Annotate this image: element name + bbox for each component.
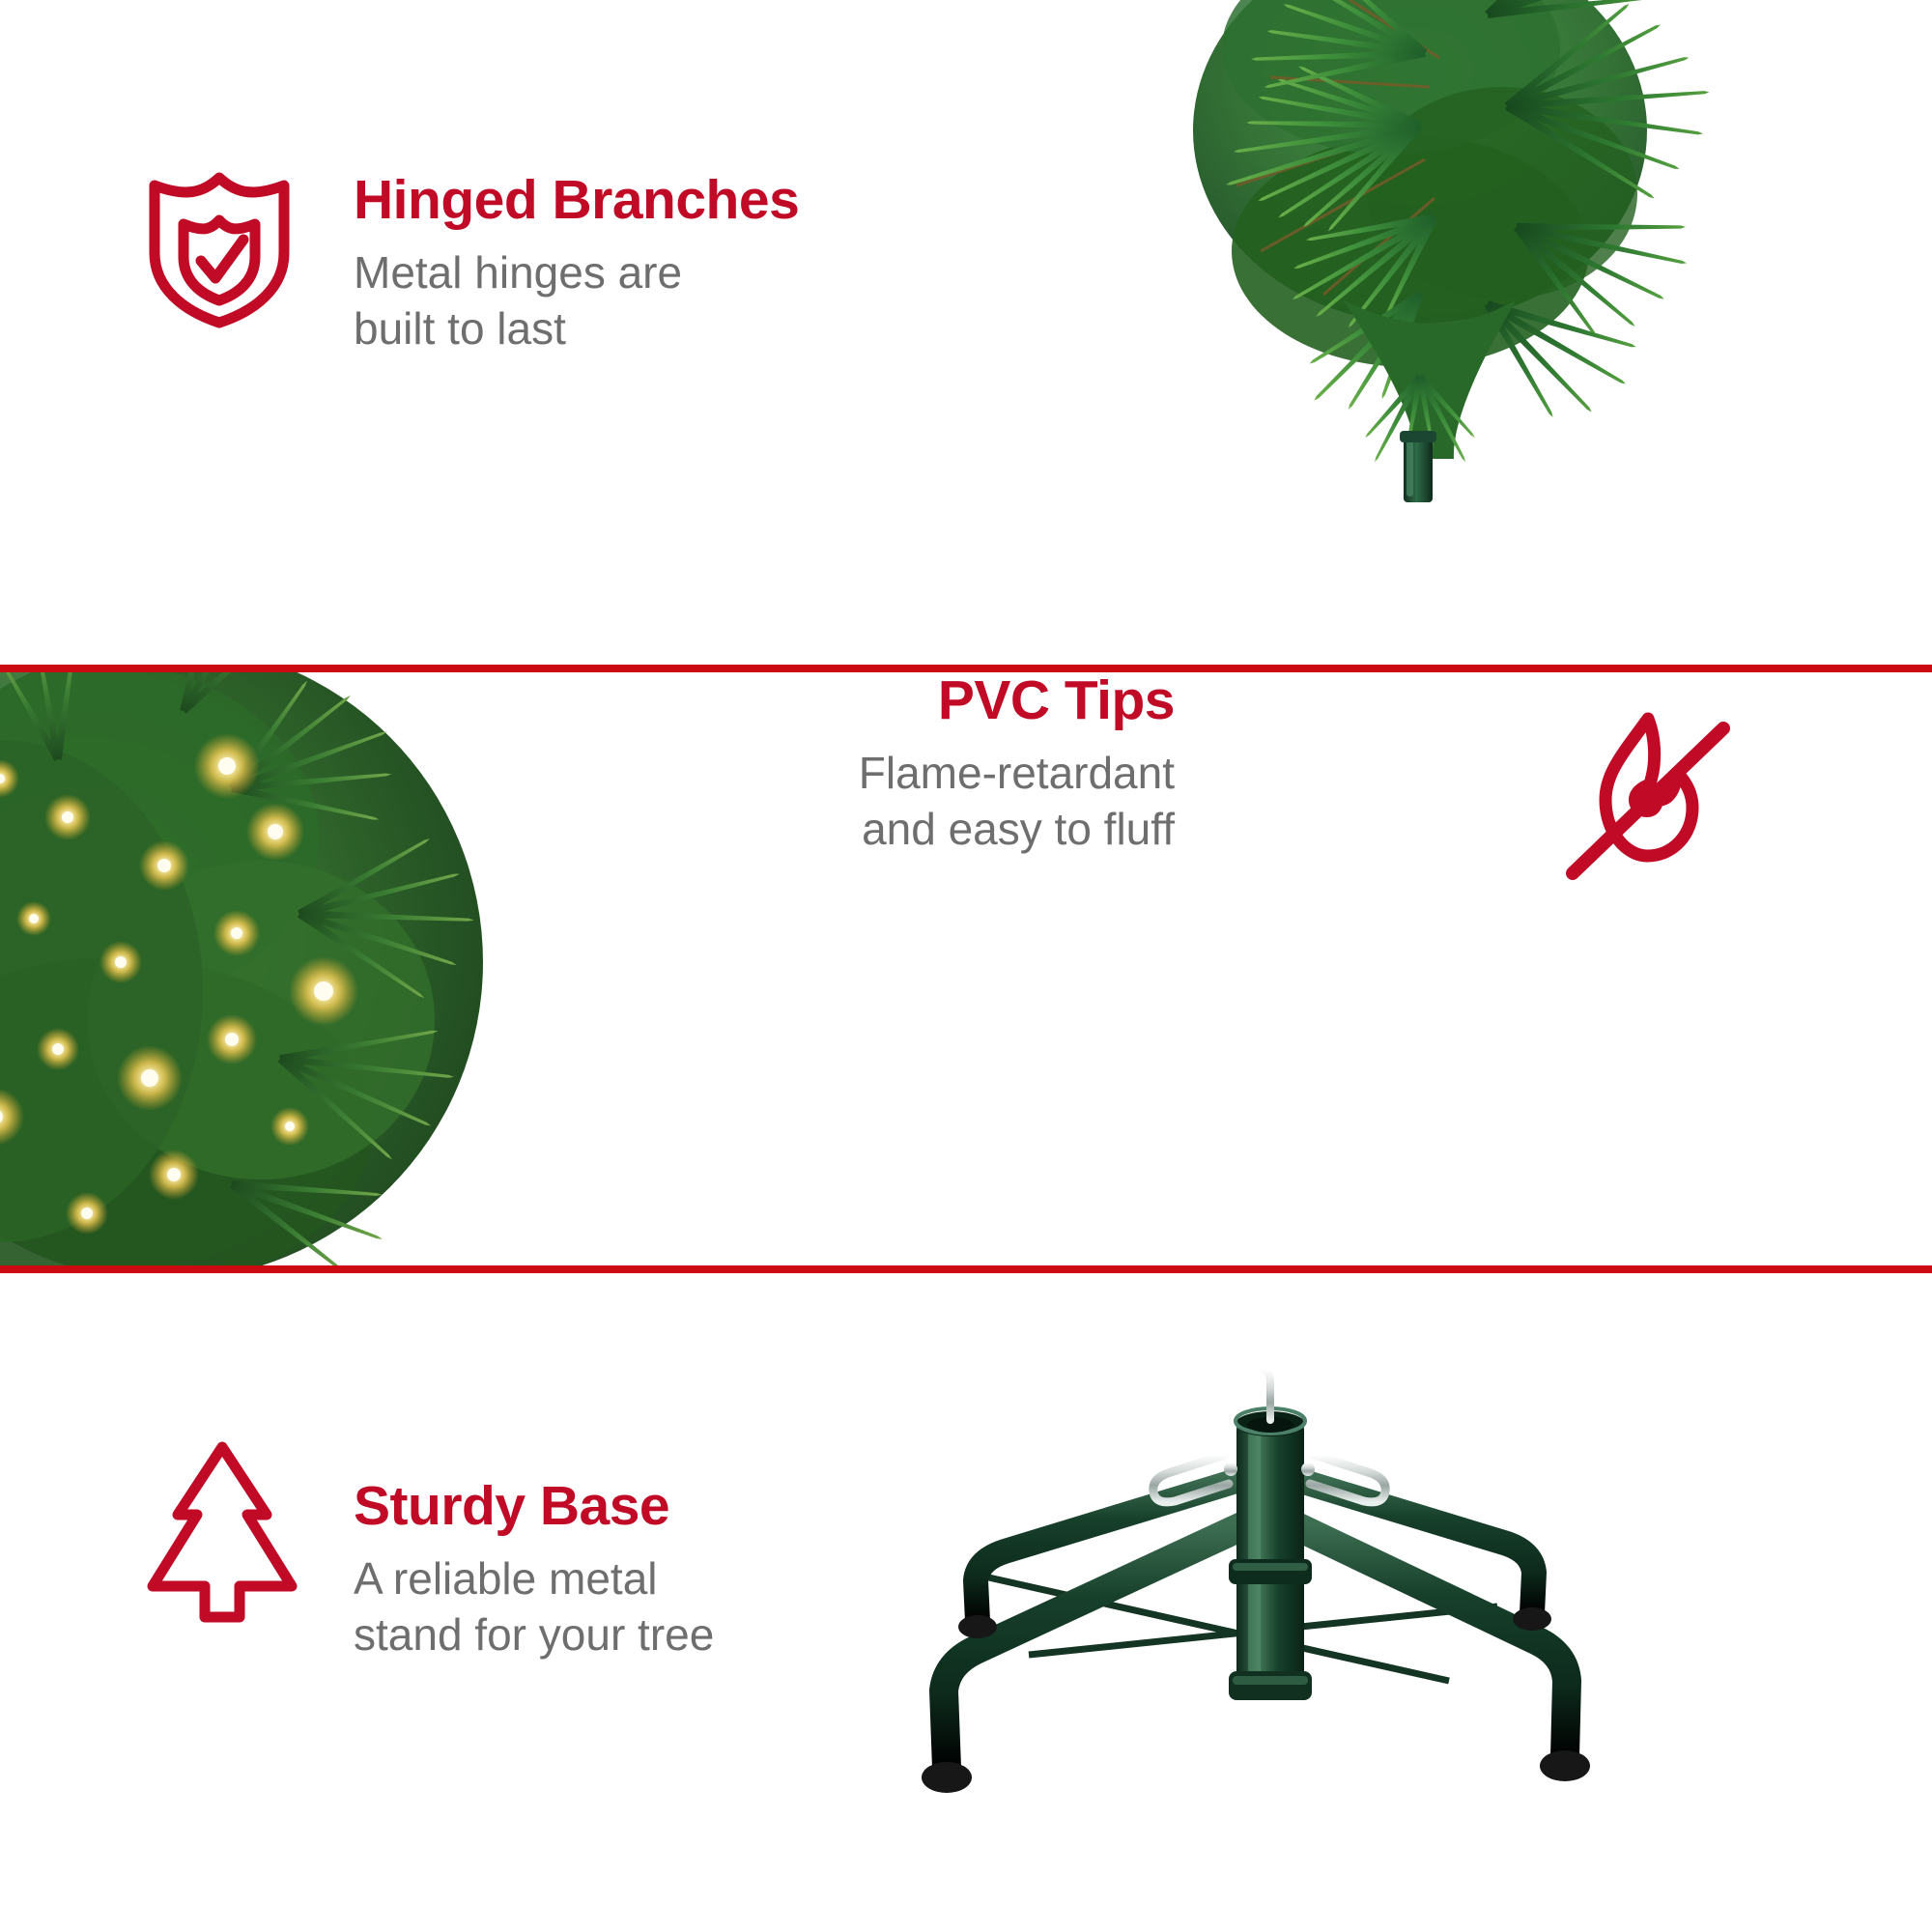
feature-panel-hinged-branches: Hinged Branches Metal hinges are built t… bbox=[0, 0, 1932, 665]
feature-text-pvc-tips: PVC Tips Flame-retardant and easy to flu… bbox=[859, 672, 1175, 858]
feature-description-line: built to last bbox=[354, 301, 799, 357]
feature-description-line: A reliable metal bbox=[354, 1551, 714, 1607]
feature-title-pvc-tips: PVC Tips bbox=[859, 672, 1175, 730]
section-divider-1 bbox=[0, 665, 1932, 672]
section-divider-2 bbox=[0, 1265, 1932, 1273]
feature-description-pvc-tips: Flame-retardant and easy to fluff bbox=[859, 746, 1175, 858]
feature-text-sturdy-base: Sturdy Base A reliable metal stand for y… bbox=[354, 1478, 714, 1663]
product-feature-infographic: Hinged Branches Metal hinges are built t… bbox=[0, 0, 1932, 1932]
feature-panel-pvc-tips: PVC Tips Flame-retardant and easy to flu… bbox=[0, 672, 1932, 1265]
feature-description-line: and easy to fluff bbox=[859, 802, 1175, 858]
feature-title-sturdy-base: Sturdy Base bbox=[354, 1478, 714, 1536]
christmas-tree-branch-closeup-image bbox=[1101, 0, 1758, 599]
tree-branch-svg bbox=[1101, 0, 1758, 599]
feature-description-hinged-branches: Metal hinges are built to last bbox=[354, 245, 799, 357]
feature-description-line: Metal hinges are bbox=[354, 245, 799, 301]
no-flame-icon bbox=[1555, 703, 1739, 896]
feature-text-hinged-branches: Hinged Branches Metal hinges are built t… bbox=[354, 172, 799, 357]
feature-description-line: Flame-retardant bbox=[859, 746, 1175, 802]
christmas-tree-outline-icon bbox=[135, 1439, 309, 1625]
feature-title-hinged-branches: Hinged Branches bbox=[354, 172, 799, 230]
metal-tree-stand-image bbox=[831, 1331, 1700, 1872]
stand-collar bbox=[1229, 1559, 1312, 1584]
feature-description-line: stand for your tree bbox=[354, 1607, 714, 1663]
feature-description-sturdy-base: A reliable metal stand for your tree bbox=[354, 1551, 714, 1663]
feature-panel-sturdy-base: Sturdy Base A reliable metal stand for y… bbox=[0, 1273, 1932, 1932]
shield-check-icon bbox=[143, 164, 296, 328]
prelit-christmas-tree-closeup-image bbox=[0, 672, 657, 1265]
